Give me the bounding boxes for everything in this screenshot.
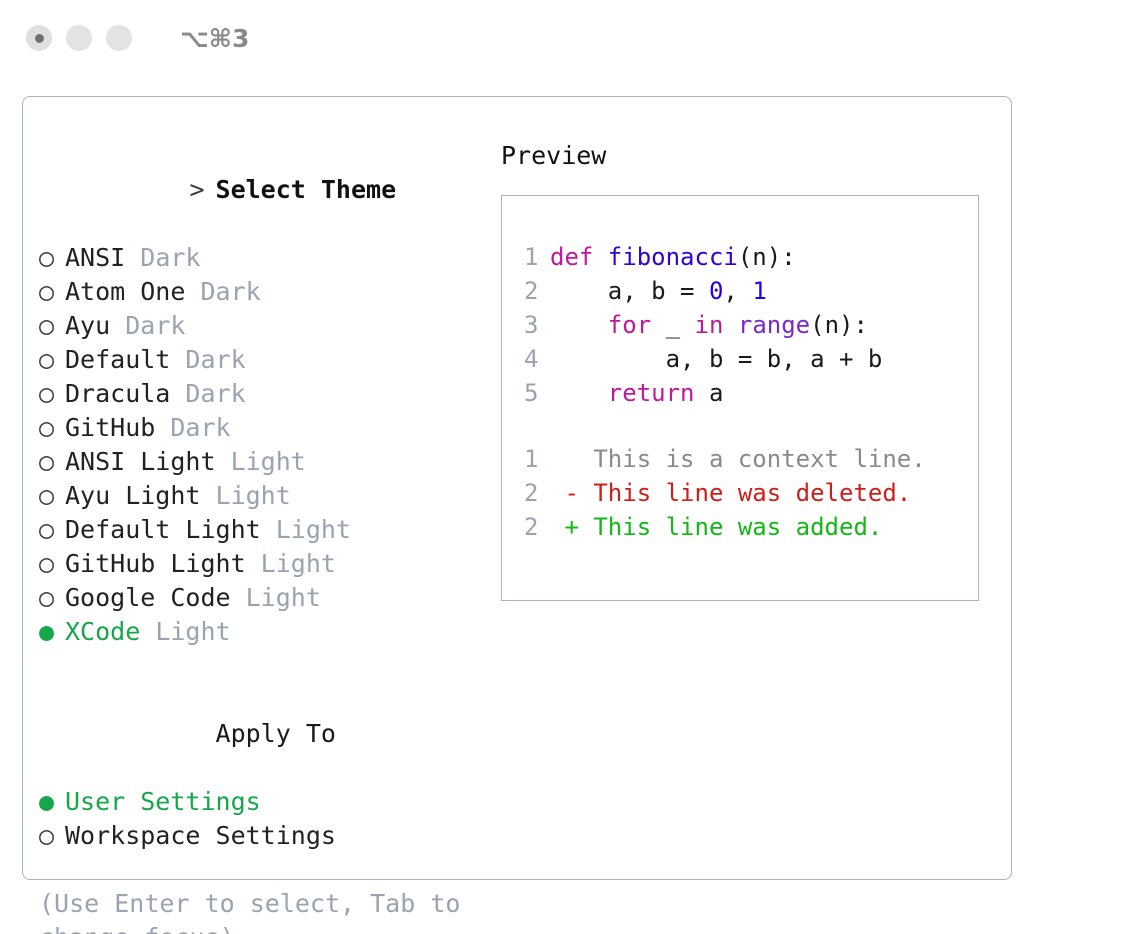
theme-list-item[interactable]: ○Default Dark bbox=[39, 343, 501, 377]
diff-line: 1 This is a context line. bbox=[524, 442, 978, 476]
code-token: 1 bbox=[752, 277, 766, 305]
theme-name-label: Default bbox=[65, 345, 185, 374]
theme-variant-label: Light bbox=[276, 515, 351, 544]
theme-list-item[interactable]: ○Default Light Light bbox=[39, 513, 501, 547]
diff-line-number: 1 bbox=[524, 442, 550, 476]
theme-name-label: Dracula bbox=[65, 379, 185, 408]
diff-line-number: 2 bbox=[524, 476, 550, 510]
theme-name-label: GitHub bbox=[65, 413, 170, 442]
apply-to-option[interactable]: ●User Settings bbox=[39, 785, 501, 819]
diff-sign: - bbox=[550, 479, 593, 507]
radio-selected-icon: ● bbox=[39, 615, 65, 649]
code-line-number: 3 bbox=[524, 308, 550, 342]
theme-variant-label: Light bbox=[216, 481, 291, 510]
preview-column: Preview 1def fibonacci(n):2 a, b = 0, 13… bbox=[501, 139, 1011, 879]
radio-unselected-icon: ○ bbox=[39, 445, 65, 479]
preview-box: 1def fibonacci(n):2 a, b = 0, 13 for _ i… bbox=[501, 195, 979, 601]
code-token: for bbox=[608, 311, 651, 339]
code-token: _ bbox=[651, 311, 694, 339]
theme-variant-label: Dark bbox=[125, 311, 185, 340]
theme-list-item[interactable]: ○ANSI Dark bbox=[39, 241, 501, 275]
list-spacer bbox=[39, 649, 501, 683]
diff-text: This line was added. bbox=[593, 513, 882, 541]
theme-variant-label: Dark bbox=[185, 379, 245, 408]
theme-name-label: XCode bbox=[65, 617, 155, 646]
radio-unselected-icon: ○ bbox=[39, 513, 65, 547]
code-token bbox=[723, 311, 737, 339]
heading-caret-icon: > bbox=[190, 173, 216, 207]
code-token: , bbox=[723, 277, 752, 305]
radio-unselected-icon: ○ bbox=[39, 309, 65, 343]
theme-variant-label: Light bbox=[246, 583, 321, 612]
code-line: 4 a, b = b, a + b bbox=[524, 342, 978, 376]
radio-unselected-icon: ○ bbox=[39, 819, 65, 853]
apply-to-option[interactable]: ○Workspace Settings bbox=[39, 819, 501, 853]
diff-text: This line was deleted. bbox=[593, 479, 911, 507]
diff-line: 2 + This line was added. bbox=[524, 510, 978, 544]
record-dot-icon[interactable] bbox=[26, 25, 52, 51]
code-line: 1def fibonacci(n): bbox=[524, 240, 978, 274]
theme-variant-label: Light bbox=[231, 447, 306, 476]
theme-variant-label: Dark bbox=[140, 243, 200, 272]
theme-variant-label: Dark bbox=[170, 413, 230, 442]
theme-list-item[interactable]: ○Dracula Dark bbox=[39, 377, 501, 411]
theme-name-label: Ayu Light bbox=[65, 481, 216, 510]
panel-columns: >Select Theme ○ANSI Dark○Atom One Dark○A… bbox=[23, 97, 1011, 879]
code-line-number: 4 bbox=[524, 342, 550, 376]
apply-to-option-label: User Settings bbox=[65, 787, 261, 816]
select-theme-heading-label: Select Theme bbox=[216, 175, 397, 204]
theme-name-label: Default Light bbox=[65, 515, 276, 544]
select-theme-heading: >Select Theme bbox=[39, 139, 501, 241]
radio-unselected-icon: ○ bbox=[39, 343, 65, 377]
theme-list-item[interactable]: ○GitHub Dark bbox=[39, 411, 501, 445]
code-preview: 1def fibonacci(n):2 a, b = 0, 13 for _ i… bbox=[524, 240, 978, 410]
radio-unselected-icon: ○ bbox=[39, 377, 65, 411]
theme-name-label: Ayu bbox=[65, 311, 125, 340]
code-line-number: 1 bbox=[524, 240, 550, 274]
theme-variant-label: Dark bbox=[185, 345, 245, 374]
code-token: a, b = b, a + b bbox=[550, 345, 882, 373]
diff-text: This is a context line. bbox=[593, 445, 925, 473]
theme-name-label: GitHub Light bbox=[65, 549, 261, 578]
radio-unselected-icon: ○ bbox=[39, 479, 65, 513]
theme-list-item[interactable]: ○ANSI Light Light bbox=[39, 445, 501, 479]
code-line: 5 return a bbox=[524, 376, 978, 410]
code-token: a bbox=[695, 379, 724, 407]
theme-name-label: Google Code bbox=[65, 583, 246, 612]
code-token: 0 bbox=[709, 277, 723, 305]
code-line: 2 a, b = 0, 1 bbox=[524, 274, 978, 308]
code-token: fibonacci bbox=[608, 243, 738, 271]
code-token bbox=[550, 311, 608, 339]
apply-to-option-label: Workspace Settings bbox=[65, 821, 336, 850]
code-token: range bbox=[738, 311, 810, 339]
theme-list-item[interactable]: ○Google Code Light bbox=[39, 581, 501, 615]
code-token: (n): bbox=[810, 311, 868, 339]
apply-to-heading-label: Apply To bbox=[216, 719, 336, 748]
keyboard-hint-line2: change focus) bbox=[39, 921, 459, 934]
code-token: a, b = bbox=[550, 277, 709, 305]
theme-list-item[interactable]: ○Atom One Dark bbox=[39, 275, 501, 309]
window-dot-3-icon[interactable] bbox=[106, 25, 132, 51]
code-token: in bbox=[695, 311, 724, 339]
diff-preview: 1 This is a context line.2 - This line w… bbox=[524, 442, 978, 544]
apply-to-marker-spacer bbox=[190, 717, 216, 751]
code-line: 3 for _ in range(n): bbox=[524, 308, 978, 342]
apply-to-list: ●User Settings○Workspace Settings bbox=[39, 785, 501, 853]
code-diff-gap bbox=[524, 410, 978, 442]
radio-unselected-icon: ○ bbox=[39, 275, 65, 309]
theme-variant-label: Light bbox=[261, 549, 336, 578]
diff-line: 2 - This line was deleted. bbox=[524, 476, 978, 510]
preview-title: Preview bbox=[501, 139, 1011, 173]
keyboard-shortcut-label: ⌥⌘3 bbox=[180, 24, 249, 53]
theme-variant-label: Dark bbox=[200, 277, 260, 306]
keyboard-hint: (Use Enter to select, Tab to change focu… bbox=[39, 887, 459, 934]
theme-variant-label: Light bbox=[155, 617, 230, 646]
record-dot-inner bbox=[35, 34, 44, 43]
window-titlebar: ⌥⌘3 bbox=[0, 0, 1140, 76]
theme-name-label: ANSI Light bbox=[65, 447, 231, 476]
code-token: return bbox=[608, 379, 695, 407]
code-token: (n): bbox=[738, 243, 796, 271]
theme-list-item[interactable]: ○GitHub Light Light bbox=[39, 547, 501, 581]
theme-name-label: Atom One bbox=[65, 277, 200, 306]
theme-list-item[interactable]: ○Ayu Dark bbox=[39, 309, 501, 343]
diff-sign: + bbox=[550, 513, 593, 541]
code-token: def bbox=[550, 243, 608, 271]
theme-list: ○ANSI Dark○Atom One Dark○Ayu Dark○Defaul… bbox=[39, 241, 501, 649]
code-token bbox=[550, 379, 608, 407]
radio-unselected-icon: ○ bbox=[39, 547, 65, 581]
code-line-number: 5 bbox=[524, 376, 550, 410]
diff-sign bbox=[550, 445, 593, 473]
radio-unselected-icon: ○ bbox=[39, 411, 65, 445]
keyboard-hint-line1: (Use Enter to select, Tab to bbox=[39, 887, 459, 921]
radio-selected-icon: ● bbox=[39, 785, 65, 819]
apply-to-heading: Apply To bbox=[39, 683, 501, 785]
radio-unselected-icon: ○ bbox=[39, 581, 65, 615]
theme-list-item[interactable]: ○Ayu Light Light bbox=[39, 479, 501, 513]
diff-line-number: 2 bbox=[524, 510, 550, 544]
theme-list-item[interactable]: ●XCode Light bbox=[39, 615, 501, 649]
theme-name-label: ANSI bbox=[65, 243, 140, 272]
theme-selector-column: >Select Theme ○ANSI Dark○Atom One Dark○A… bbox=[23, 139, 501, 879]
code-line-number: 2 bbox=[524, 274, 550, 308]
app-window: ⌥⌘3 >Select Theme ○ANSI Dark○Atom One Da… bbox=[0, 0, 1140, 934]
radio-unselected-icon: ○ bbox=[39, 241, 65, 275]
window-dot-2-icon[interactable] bbox=[66, 25, 92, 51]
main-panel: >Select Theme ○ANSI Dark○Atom One Dark○A… bbox=[22, 96, 1012, 880]
